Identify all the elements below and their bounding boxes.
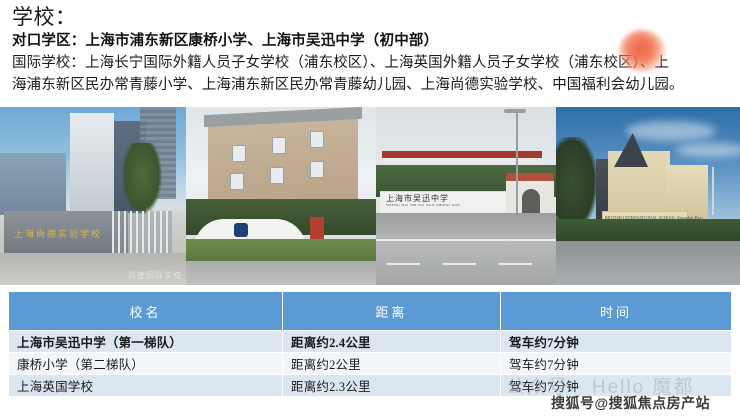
wall-inscription: 上海尚德实验学校 [14,227,114,241]
cell-school: 上海英国学校 [9,375,283,397]
cloud [626,121,716,141]
hedge-row [556,219,740,243]
column-header-time: 时间 [501,292,732,331]
cloud [676,143,740,157]
fence [112,211,172,255]
cell-time: 驾车约7分钟 [501,331,732,353]
table-row: 上海英国学校 距离约2.3公里 驾车约7分钟 [9,375,732,397]
glass-building [0,153,66,215]
photo-shangde-experimental-school: 上海尚德实验学校 尚德国际学校 [0,107,186,285]
wall-pinyin: SHANG HAI SHI WU XUN ZHONG XUE [386,203,496,207]
window [270,167,284,184]
window [230,173,244,190]
window [310,131,324,148]
cell-time: 驾车约7分钟 [501,375,732,397]
sis-logo-icon [234,223,248,237]
street-lamp-head [504,109,526,113]
flag-pole [712,167,714,215]
lane-marking [442,263,476,265]
photo-strip: 上海尚德实验学校 尚德国际学校 上海浦东新区民办常青藤幼儿园 上海浦东新区民办常… [0,107,740,285]
photo-sis-ivy-school: 上海浦东新区民办常青藤幼儿园 上海浦东新区民办常青藤小学 [186,107,376,285]
international-school-line-1: 国际学校：上海长宁国际外籍人员子女学校（浦东校区）、上海英国外籍人员子女学校（浦… [12,53,736,74]
international-school-line-2: 海浦东新区民办常青藤小学、上海浦东新区民办常青藤幼儿园、上海尚德实验学校、中国福… [12,75,736,96]
cell-distance: 距离约2.4公里 [283,331,501,353]
cell-time: 驾车约7分钟 [501,353,732,375]
lane-marking [498,263,532,265]
lawn [186,239,376,263]
column-header-distance: 距离 [283,292,501,331]
table-row: 上海市吴迅中学（第一梯队） 距离约2.4公里 驾车约7分钟 [9,331,732,353]
lane-marking [386,263,420,265]
street-lamp-pole [516,109,518,213]
column-header-school: 校名 [9,292,283,331]
road [556,241,740,285]
schools-distance-table-wrap: 校名 距离 时间 上海市吴迅中学（第一梯队） 距离约2.4公里 驾车约7分钟 康… [8,291,731,397]
table-header-row: 校名 距离 时间 [9,292,732,331]
schools-distance-table: 校名 距离 时间 上海市吴迅中学（第一梯队） 距离约2.4公里 驾车约7分钟 康… [8,291,732,397]
text-block: 学校： 对口学区：上海市浦东新区康桥小学、上海市吴迅中学（初中部） 国际学校：上… [12,4,736,95]
window [232,145,246,162]
tree [122,143,162,215]
dark-tree [556,137,596,229]
cell-distance: 距离约2公里 [283,353,501,375]
cell-school: 康桥小学（第二梯队） [9,353,283,375]
page-title: 学校： [12,4,736,30]
lane-marking [376,239,556,241]
main-tower [70,113,114,211]
photo-british-international-school: BRITISH INTERNATIONAL SCHOOL Shanghai Pu… [556,107,740,285]
window [272,137,286,154]
road [376,213,556,285]
zoned-school-line: 对口学区：上海市浦东新区康桥小学、上海市吴迅中学（初中部） [12,31,736,52]
road [186,261,376,285]
ground-pavement [0,253,186,285]
cell-distance: 距离约2.3公里 [283,375,501,397]
photo-wuxun-middle-school: 上海市吴迅中学 SHANG HAI SHI WU XUN ZHONG XUE [376,107,556,285]
cell-school: 上海市吴迅中学（第一梯队） [9,331,283,353]
gate-arch [522,189,540,213]
window [310,161,324,178]
slide-root: 学校： 对口学区：上海市浦东新区康桥小学、上海市吴迅中学（初中部） 国际学校：上… [0,0,740,417]
table-row: 康桥小学（第二梯队） 距离约2公里 驾车约7分钟 [9,353,732,375]
